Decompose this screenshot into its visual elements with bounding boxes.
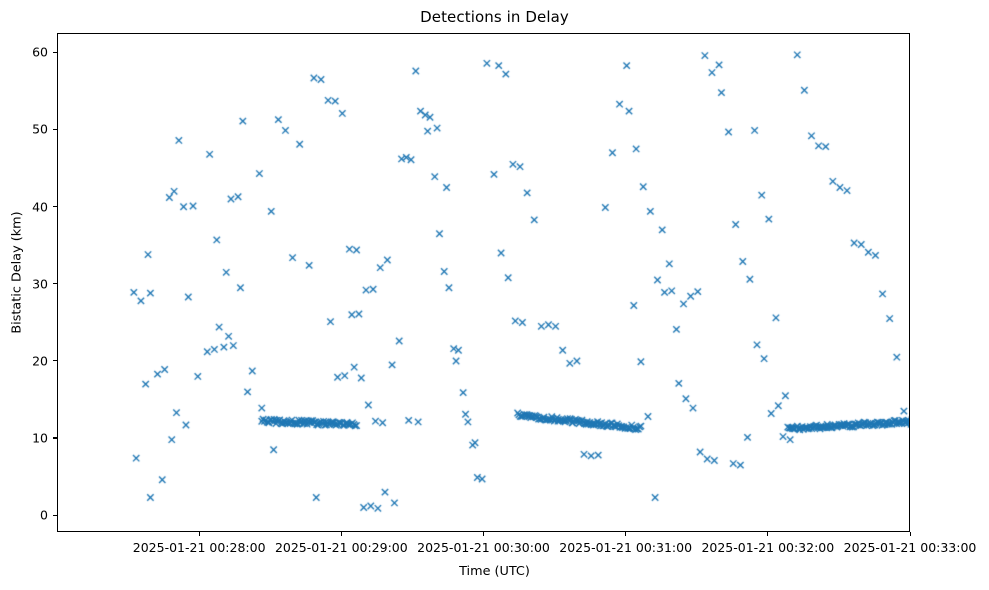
x-tick-label: 2025-01-21 00:33:00 — [844, 540, 977, 555]
x-tick-label: 2025-01-21 00:32:00 — [701, 540, 834, 555]
x-tick-label: 2025-01-21 00:31:00 — [559, 540, 692, 555]
y-tick-label: 50 — [8, 122, 48, 137]
x-tick-label: 2025-01-21 00:29:00 — [275, 540, 408, 555]
y-tick-label: 10 — [8, 430, 48, 445]
x-tick-mark — [910, 532, 911, 536]
scatter-plot-canvas — [58, 34, 910, 532]
y-tick-mark — [53, 52, 57, 53]
y-tick-label: 0 — [8, 508, 48, 523]
x-axis-label: Time (UTC) — [0, 564, 989, 579]
page-title: Detections in Delay — [0, 8, 989, 26]
x-tick-mark — [341, 532, 342, 536]
x-tick-mark — [483, 532, 484, 536]
x-tick-label: 2025-01-21 00:28:00 — [133, 540, 266, 555]
y-tick-mark — [53, 360, 57, 361]
x-tick-mark — [767, 532, 768, 536]
y-tick-mark — [53, 206, 57, 207]
y-tick-mark — [53, 515, 57, 516]
plot-axes — [57, 33, 910, 532]
x-tick-label: 2025-01-21 00:30:00 — [417, 540, 550, 555]
y-tick-mark — [53, 437, 57, 438]
matplotlib-figure: Detections in Delay 0102030405060 2025-0… — [0, 0, 989, 590]
y-tick-mark — [53, 283, 57, 284]
y-tick-mark — [53, 129, 57, 130]
x-tick-mark — [625, 532, 626, 536]
y-axis-label: Bistatic Delay (km) — [10, 153, 25, 393]
y-tick-label: 60 — [8, 45, 48, 60]
x-tick-mark — [199, 532, 200, 536]
